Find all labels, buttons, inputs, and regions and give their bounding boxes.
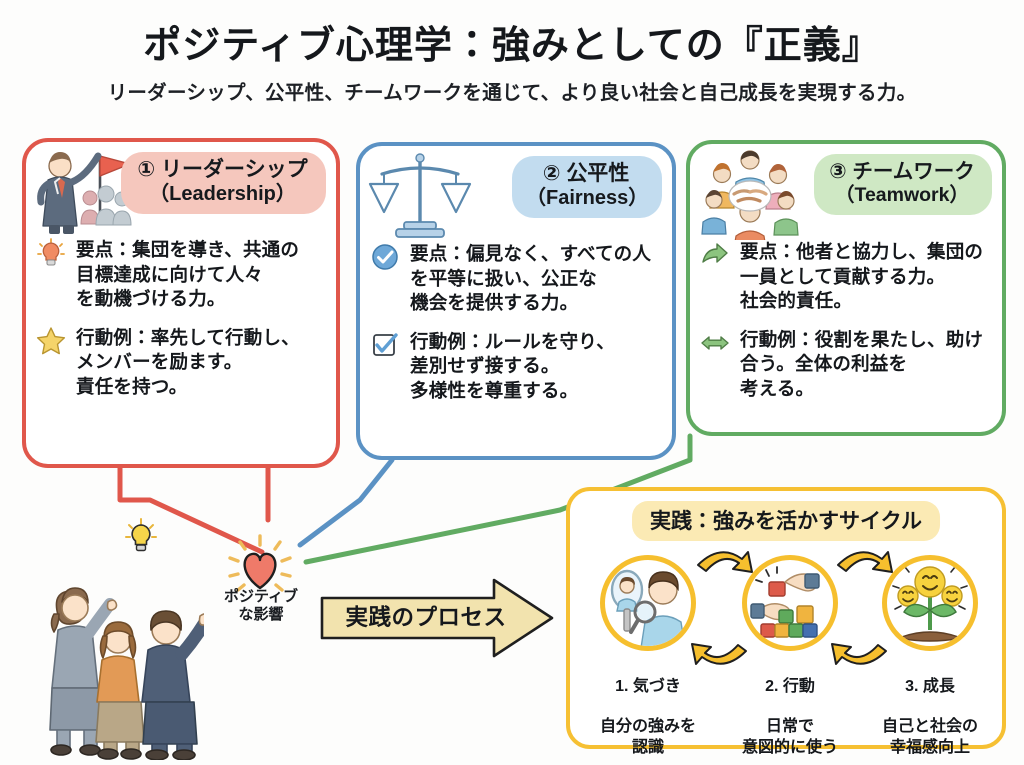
- cycle-step-3-label: 3. 成長 自己と社会の 幸福感向上: [855, 657, 1005, 758]
- lightbulb-icon: [36, 238, 76, 268]
- cycle-step-2-desc: 日常で 意図的に使う: [742, 718, 838, 755]
- cycle-step-2-label: 2. 行動 日常で 意図的に使う: [715, 657, 865, 758]
- card-fairness[interactable]: ② 公平性 （Fairness） 要点：偏見なく、すべての人 を平等に扱い、公正…: [356, 142, 676, 460]
- page-subtitle: リーダーシップ、公平性、チームワークを通じて、より良い社会と自己成長を実現する力…: [0, 76, 1024, 105]
- team-circle-hands-illustration: [698, 148, 802, 240]
- card-fairness-badge: ② 公平性 （Fairness）: [512, 156, 662, 218]
- card-fairness-bullet-action: 行動例：ルールを守り、 差別せず接する。 多様性を尊重する。: [370, 330, 660, 404]
- card-fairness-title-en: （Fairness）: [526, 187, 646, 211]
- balance-scale-illustration: [368, 150, 472, 242]
- three-people-looking-up-illustration: [14, 560, 204, 760]
- cycle-step-3-circle[interactable]: [882, 555, 978, 651]
- lightbulb-icon: [126, 519, 156, 551]
- building-blocks-illustration: [747, 560, 833, 646]
- card-leadership-title-en: （Leadership）: [135, 183, 310, 207]
- card-teamwork-number: ③: [829, 160, 846, 183]
- card-leadership-bullet-point: 要点：集団を導き、共通の 目標達成に向けて人々 を動機づける力。: [36, 238, 324, 312]
- cycle-step-2-circle[interactable]: [742, 555, 838, 651]
- checkbox-icon: [370, 330, 410, 360]
- card-fairness-bullet-point: 要点：偏見なく、すべての人 を平等に扱い、公正な 機会を提供する力。: [370, 242, 660, 316]
- card-leadership-bullet-action: 行動例：率先して行動し、 メンバーを励ます。 責任を持つ。: [36, 326, 324, 400]
- card-leadership-title-ja: リーダーシップ: [161, 158, 308, 181]
- card-leadership-bullet-action-text: 行動例：率先して行動し、 メンバーを励ます。 責任を持つ。: [76, 326, 300, 400]
- cycle-step-1-circle[interactable]: [600, 555, 696, 651]
- infographic-root: ポジティブ心理学：強みとしての『正義』 リーダーシップ、公平性、チームワークを通…: [0, 0, 1024, 765]
- cycle-step-3-desc: 自己と社会の 幸福感向上: [882, 718, 978, 755]
- card-teamwork[interactable]: ③ チームワーク （Teamwork） 要点：他者と協力し、集団の 一員として貢…: [686, 140, 1006, 436]
- card-teamwork-bullet-action-text: 行動例：役割を果たし、助け 合う。全体の利益を 考える。: [740, 328, 983, 402]
- card-teamwork-bullet-action: 行動例：役割を果たし、助け 合う。全体の利益を 考える。: [700, 328, 990, 402]
- practice-cycle-panel[interactable]: 実践：強みを活かすサイクル: [566, 487, 1006, 749]
- heart-icon: [230, 536, 290, 590]
- process-arrow-label: 実践のプロセス: [326, 600, 526, 632]
- page-title: ポジティブ心理学：強みとしての『正義』: [0, 14, 1024, 69]
- curved-arrow-icon: [700, 240, 740, 270]
- check-circle-icon: [370, 242, 410, 272]
- positive-impact-label: ポジティブ な影響: [196, 588, 326, 625]
- card-leadership[interactable]: ① リーダーシップ （Leadership） 要点：集団を導き、共通の 目標達成…: [22, 138, 340, 468]
- cycle-step-1-desc: 自分の強みを 認識: [600, 718, 696, 755]
- star-icon: [36, 326, 76, 356]
- card-leadership-bullet-point-text: 要点：集団を導き、共通の 目標達成に向けて人々 を動機づける力。: [76, 238, 299, 312]
- card-fairness-title-ja: 公平性: [566, 162, 629, 185]
- card-teamwork-badge: ③ チームワーク （Teamwork）: [814, 154, 992, 215]
- card-teamwork-bullet-point: 要点：他者と協力し、集団の 一員として貢献する力。 社会的責任。: [700, 240, 990, 314]
- flower-smiles-illustration: [887, 560, 973, 646]
- card-teamwork-title-ja: チームワーク: [852, 160, 974, 183]
- card-leadership-badge: ① リーダーシップ （Leadership）: [121, 152, 326, 214]
- cycle-step-1-number: 1. 気づき: [573, 677, 723, 697]
- cycle-step-1-label: 1. 気づき 自分の強みを 認識: [573, 657, 723, 758]
- cycle-step-2-number: 2. 行動: [715, 677, 865, 697]
- card-teamwork-bullet-point-text: 要点：他者と協力し、集団の 一員として貢献する力。 社会的責任。: [740, 240, 983, 314]
- mirror-magnifier-illustration: [605, 560, 691, 646]
- card-teamwork-title-en: （Teamwork）: [828, 184, 976, 207]
- card-fairness-bullet-action-text: 行動例：ルールを守り、 差別せず接する。 多様性を尊重する。: [410, 330, 615, 404]
- card-teamwork-head: ③ チームワーク （Teamwork）: [690, 144, 1002, 240]
- card-leadership-number: ①: [137, 158, 155, 181]
- card-fairness-number: ②: [543, 162, 561, 185]
- double-arrow-icon: [700, 328, 740, 358]
- card-leadership-head: ① リーダーシップ （Leadership）: [26, 142, 336, 238]
- card-fairness-head: ② 公平性 （Fairness）: [360, 146, 672, 242]
- cycle-step-3-number: 3. 成長: [855, 677, 1005, 697]
- card-fairness-bullet-point-text: 要点：偏見なく、すべての人 を平等に扱い、公正な 機会を提供する力。: [410, 242, 651, 316]
